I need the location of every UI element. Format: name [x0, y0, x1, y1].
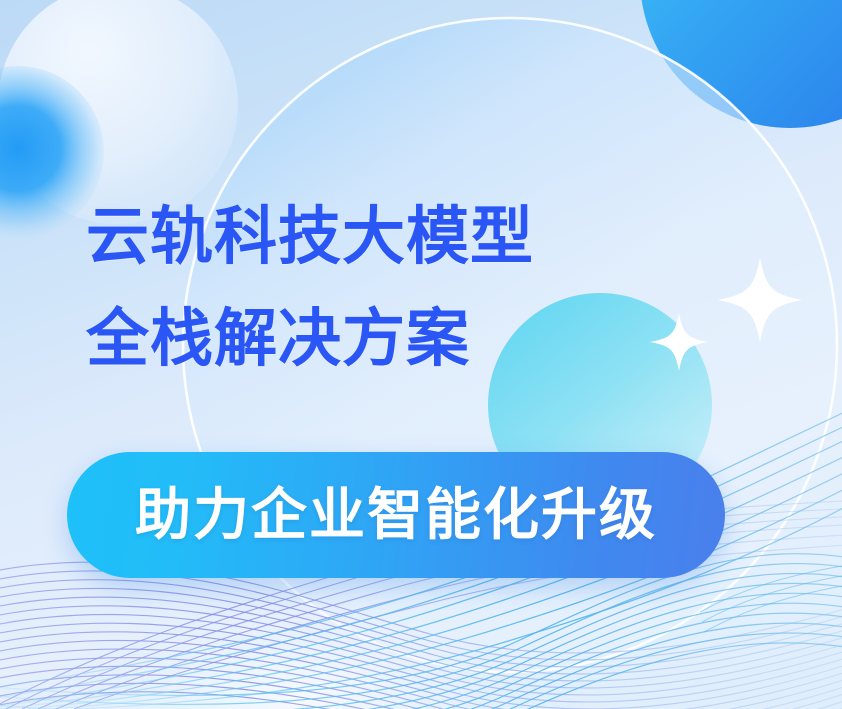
cta-button[interactable]: 助力企业智能化升级	[67, 452, 725, 578]
promo-banner: 云轨科技大模型 全栈解决方案 助力企业智能化升级	[0, 0, 842, 709]
page-title: 云轨科技大模型 全栈解决方案	[86, 186, 534, 390]
cta-button-label: 助力企业智能化升级	[135, 487, 657, 543]
banner-content: 云轨科技大模型 全栈解决方案 助力企业智能化升级	[0, 0, 842, 709]
headline-line-1: 云轨科技大模型	[86, 186, 534, 288]
headline-line-2: 全栈解决方案	[86, 288, 534, 390]
